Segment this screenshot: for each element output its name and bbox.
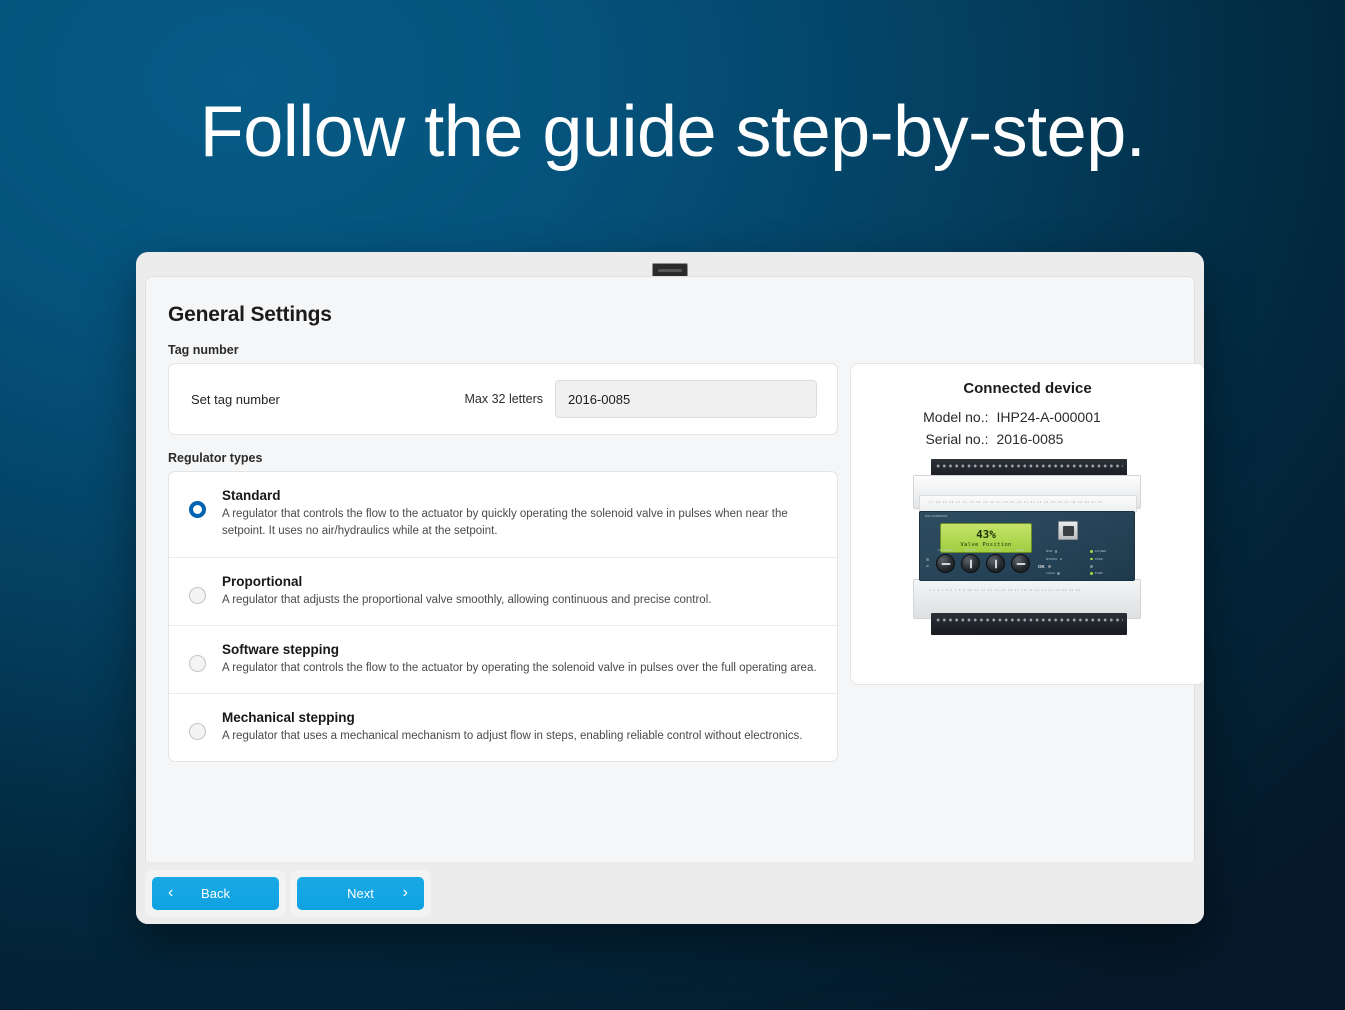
tag-number-input[interactable] [555,380,817,418]
connected-device-title: Connected device [865,380,1190,397]
led-indicator-icon [1060,558,1063,561]
led-indicator-icon [1048,565,1051,568]
led-indicator-icon [1057,572,1060,575]
regulator-option-label: Proportional [222,574,819,589]
led-label: LOCAL [1046,572,1055,575]
chevron-left-icon: ‹ [168,885,173,901]
device-brand-label: HAL CONTROLS [925,515,947,518]
device-led-grid: MOD CLOSED MOVING [1046,550,1130,575]
led-indicator-icon [1090,558,1093,561]
led-row-pump: PUMP [1090,572,1130,575]
led-row-blank-right [1090,565,1130,568]
regulator-types-card: Standard A regulator that controls the f… [168,471,838,762]
lcd-caption: Valve Position [960,542,1011,548]
device-illustration: 27 28 29 30 31 32 33 34 35 36 37 38 39 4… [905,457,1150,637]
usb-port-icon [1058,521,1078,540]
device-serial-label: Serial no.: [911,431,989,447]
tag-number-card: Set tag number Max 32 letters [168,363,838,435]
page-title: General Settings [168,303,1172,327]
tag-number-section-label: Tag number [168,343,838,357]
back-button-shell: ‹ Back [145,870,286,917]
device-faceplate: HAL CONTROLS 43% Valve Position [919,511,1135,581]
led-label: MOVING [1046,558,1058,561]
led-indicator-icon [1090,550,1093,553]
knob-label: ERROR [961,549,980,552]
device-model-label: Model no.: [911,409,989,425]
device-mini-leds [926,558,929,571]
regulator-option-mechanical-stepping[interactable]: Mechanical stepping A regulator that use… [169,694,837,761]
regulator-option-description: A regulator that uses a mechanical mecha… [222,728,819,745]
terminal-pins-icon [935,617,1123,623]
led-indicator-icon [1055,550,1058,553]
led-label: PUMP [1095,572,1103,575]
terminal-pins-icon [935,463,1123,469]
regulator-option-description: A regulator that controls the flow to th… [222,660,819,677]
led-row-moving: MOVING [1046,558,1086,561]
wizard-footer: ‹ Back Next › [136,862,1204,924]
radio-proportional[interactable] [189,587,206,604]
app-window: General Settings Tag number Set tag numb… [136,252,1204,924]
page-headline: Follow the guide step-by-step. [0,96,1345,168]
set-tag-number-label: Set tag number [191,392,280,407]
led-indicator-icon [1090,565,1093,568]
mini-led-icon [926,558,929,561]
regulator-option-label: Mechanical stepping [222,710,819,725]
back-button-label: Back [201,886,230,901]
device-knob-calibrate: CALIBRATE [936,554,955,573]
next-button-label: Next [347,886,374,901]
device-serial-row: Serial no.: 2016-0085 [865,431,1190,447]
device-knob-row: CALIBRATE ERROR STATUS [936,554,1030,573]
body-columns: Tag number Set tag number Max 32 letters… [168,327,1172,762]
device-knob-error: ERROR [961,554,980,573]
device-knob-mode: MODE [1011,554,1030,573]
next-button-shell: Next › [290,870,431,917]
next-button[interactable]: Next › [297,877,424,910]
max-letters-hint: Max 32 letters [464,392,555,406]
regulator-option-proportional[interactable]: Proportional A regulator that adjusts th… [169,558,837,626]
led-row-local: LOCAL [1046,572,1086,575]
led-row-blank-left [1046,565,1086,568]
radio-mechanical-stepping[interactable] [189,723,206,740]
regulator-option-description: A regulator that controls the flow to th… [222,506,819,541]
regulator-option-label: Software stepping [222,642,819,657]
regulator-option-software-stepping[interactable]: Software stepping A regulator that contr… [169,626,837,694]
mini-led-icon [926,565,929,568]
knob-label: STATUS [986,549,1005,552]
regulator-option-standard[interactable]: Standard A regulator that controls the f… [169,472,837,558]
led-indicator-icon [1090,572,1093,575]
device-serial-value: 2016-0085 [997,431,1145,447]
device-model-value: IHP24-A-000001 [997,409,1145,425]
radio-standard[interactable] [189,501,206,518]
terminal-block-bottom-icon [931,613,1127,635]
led-row-closed: CLOSED [1090,550,1130,553]
settings-column: Tag number Set tag number Max 32 letters… [168,327,838,762]
device-ok-label: OK [1038,564,1045,569]
radio-software-stepping[interactable] [189,655,206,672]
led-label: MOD [1046,550,1053,553]
led-row-mod: MOD [1046,550,1086,553]
knob-icon [936,554,955,573]
led-label: OPEN [1095,558,1103,561]
knob-icon [986,554,1005,573]
device-knob-status: STATUS [986,554,1005,573]
regulator-option-label: Standard [222,488,819,503]
connected-device-column: Connected device Model no.: IHP24-A-0000… [850,327,1204,685]
back-button[interactable]: ‹ Back [152,877,279,910]
device-model-row: Model no.: IHP24-A-000001 [865,409,1190,425]
regulator-types-section-label: Regulator types [168,451,838,465]
content-panel: General Settings Tag number Set tag numb… [145,276,1195,924]
device-bottom-scale: 1 2 3 4 5 6 7 8 9 10 11 12 13 14 15 16 1… [929,589,1081,592]
knob-label: MODE [1011,549,1030,552]
led-row-open: OPEN [1090,558,1130,561]
regulator-option-description: A regulator that adjusts the proportiona… [222,592,819,609]
knob-icon [961,554,980,573]
knob-label: CALIBRATE [936,549,955,552]
knob-icon [1011,554,1030,573]
device-top-scale: 27 28 29 30 31 32 33 34 35 36 37 38 39 4… [929,501,1103,504]
led-label: CLOSED [1095,550,1107,553]
connected-device-card: Connected device Model no.: IHP24-A-0000… [850,363,1204,685]
chevron-right-icon: › [403,885,408,901]
lcd-value: 43% [976,529,996,540]
